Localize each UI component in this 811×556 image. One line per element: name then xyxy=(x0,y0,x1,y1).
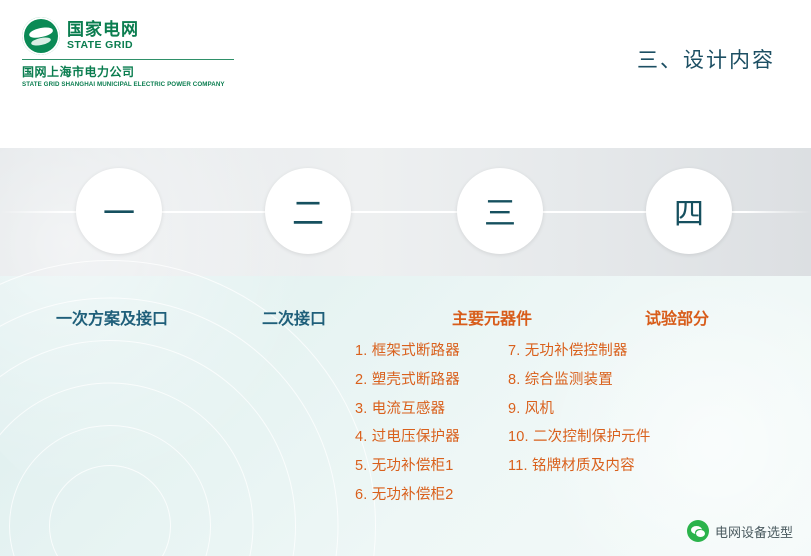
state-grid-globe-icon xyxy=(22,17,60,55)
step-heading-2: 二次接口 xyxy=(262,305,326,329)
component-list-left: 1. 框架式断路器 2. 塑壳式断路器 3. 电流互感器 4. 过电压保护器 5… xyxy=(355,337,460,510)
list-item: 3. 电流互感器 xyxy=(355,395,460,424)
list-item: 4. 过电压保护器 xyxy=(355,423,460,452)
step-circle-4[interactable]: 四 xyxy=(646,168,732,254)
logo-en-name: STATE GRID xyxy=(67,40,139,51)
footer-wechat: 电网设备选型 xyxy=(687,520,793,542)
step-number-1: 一 xyxy=(103,188,135,234)
logo-divider xyxy=(22,59,234,60)
list-item: 2. 塑壳式断路器 xyxy=(355,366,460,395)
step-heading-3: 主要元器件 xyxy=(452,305,532,329)
logo-block: 国家电网 STATE GRID 国网上海市电力公司 STATE GRID SHA… xyxy=(22,17,262,88)
list-item: 8. 综合监测装置 xyxy=(508,366,651,395)
wechat-icon xyxy=(687,520,709,542)
list-item: 9. 风机 xyxy=(508,395,651,424)
logo-cn-name: 国家电网 xyxy=(67,21,139,39)
slide: 国家电网 STATE GRID 国网上海市电力公司 STATE GRID SHA… xyxy=(0,0,811,556)
step-number-3: 三 xyxy=(484,188,516,234)
list-item: 6. 无功补偿柜2 xyxy=(355,481,460,510)
component-list-right: 7. 无功补偿控制器 8. 综合监测装置 9. 风机 10. 二次控制保护元件 … xyxy=(508,337,651,481)
step-circle-1[interactable]: 一 xyxy=(76,168,162,254)
step-circle-2[interactable]: 二 xyxy=(265,168,351,254)
list-item: 5. 无功补偿柜1 xyxy=(355,452,460,481)
step-heading-1: 一次方案及接口 xyxy=(56,305,168,329)
logo-sub-en: STATE GRID SHANGHAI MUNICIPAL ELECTRIC P… xyxy=(22,81,262,88)
footer-label: 电网设备选型 xyxy=(715,522,793,541)
section-title: 三、设计内容 xyxy=(637,44,775,74)
step-number-4: 四 xyxy=(674,189,704,233)
list-item: 10. 二次控制保护元件 xyxy=(508,423,651,452)
list-item: 7. 无功补偿控制器 xyxy=(508,337,651,366)
list-item: 1. 框架式断路器 xyxy=(355,337,460,366)
step-heading-4: 试验部分 xyxy=(645,305,709,329)
list-item: 11. 铭牌材质及内容 xyxy=(508,452,651,481)
logo-sub-cn: 国网上海市电力公司 xyxy=(22,63,262,80)
step-circle-3[interactable]: 三 xyxy=(457,168,543,254)
step-number-2: 二 xyxy=(292,188,324,234)
